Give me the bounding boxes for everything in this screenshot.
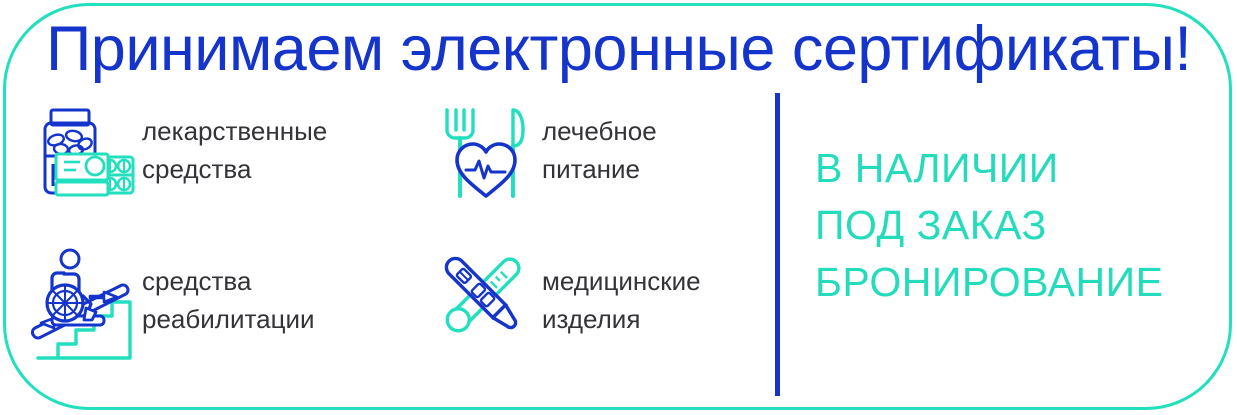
wheelchair-ramp-icon [24, 236, 142, 368]
thermometers-icon [424, 236, 542, 350]
pill-bottle-icon [24, 100, 142, 204]
feature-label-medicines: лекарственные средства [142, 100, 327, 188]
certificate-banner: Принимаем электронные сертификаты! [0, 0, 1237, 415]
feature-grid: лекарственные средства [24, 100, 764, 370]
status-item-on-order: ПОД ЗАКАЗ [815, 197, 1163, 254]
feature-label-rehabilitation: средства реабилитации [142, 236, 315, 338]
availability-status-list: В НАЛИЧИИ ПОД ЗАКАЗ БРОНИРОВАНИЕ [815, 140, 1163, 311]
feature-item-rehabilitation: средства реабилитации [24, 236, 424, 372]
status-item-in-stock: В НАЛИЧИИ [815, 140, 1163, 197]
feature-item-devices: медицинские изделия [424, 236, 764, 372]
feature-label-devices: медицинские изделия [542, 236, 701, 338]
feature-item-medicines: лекарственные средства [24, 100, 424, 236]
vertical-divider [775, 93, 780, 396]
fork-knife-heart-icon [424, 100, 542, 204]
status-item-reservation: БРОНИРОВАНИЕ [815, 254, 1163, 311]
feature-item-nutrition: лечебное питание [424, 100, 764, 236]
feature-label-nutrition: лечебное питание [542, 100, 657, 188]
page-title: Принимаем электронные сертификаты! [46, 14, 1196, 84]
